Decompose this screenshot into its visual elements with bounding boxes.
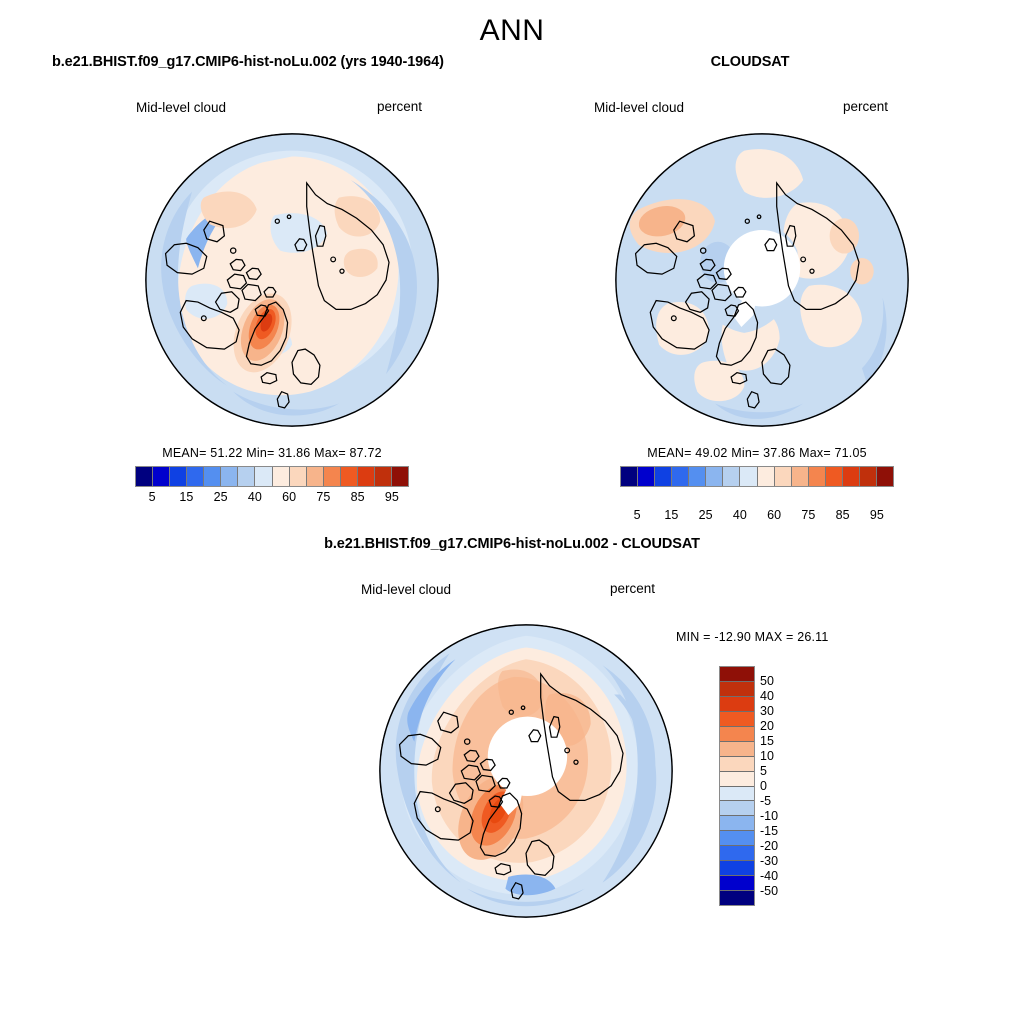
colorbar-swatch — [689, 467, 706, 486]
colorbar-swatch — [290, 467, 307, 486]
panel-title-difference: b.e21.BHIST.f09_g17.CMIP6-hist-noLu.002 … — [242, 536, 782, 552]
colorbar-difference[interactable] — [719, 666, 755, 906]
colorbar-swatch — [720, 742, 754, 757]
colorbar-ticks-observation: 515254060758595 — [620, 507, 894, 525]
colorbar-swatch — [187, 467, 204, 486]
colorbar-swatch — [720, 861, 754, 876]
colorbar-tick-label: 60 — [282, 490, 296, 504]
colorbar-swatch — [826, 467, 843, 486]
colorbar-swatch — [809, 467, 826, 486]
colorbar-swatch — [775, 467, 792, 486]
colorbar-swatch — [720, 891, 754, 905]
colorbar-tick-label: 0 — [760, 779, 767, 793]
colorbar-ticks-model: 515254060758595 — [135, 489, 409, 507]
colorbar-swatch — [792, 467, 809, 486]
colorbar-swatch — [720, 846, 754, 861]
polar-map-difference[interactable] — [379, 624, 673, 918]
colorbar-tick-label: 15 — [664, 508, 678, 522]
colorbar-ticks-difference: 50403020151050-5-10-15-20-30-40-50 — [760, 666, 800, 906]
page-title: ANN — [0, 14, 1024, 48]
colorbar-model[interactable] — [135, 466, 409, 487]
colorbar-swatch — [307, 467, 324, 486]
colorbar-tick-label: 5 — [634, 508, 641, 522]
colorbar-tick-label: 15 — [179, 490, 193, 504]
colorbar-swatch — [375, 467, 392, 486]
colorbar-swatch — [723, 467, 740, 486]
colorbar-swatch — [221, 467, 238, 486]
colorbar-swatch — [706, 467, 723, 486]
units-label-obs: percent — [843, 99, 888, 114]
colorbar-tick-label: 10 — [760, 749, 774, 763]
colorbar-tick-label: 75 — [316, 490, 330, 504]
colorbar-tick-label: -15 — [760, 824, 778, 838]
polar-map-model[interactable] — [145, 133, 439, 427]
colorbar-tick-label: -50 — [760, 884, 778, 898]
colorbar-swatch — [877, 467, 893, 486]
colorbar-swatch — [273, 467, 290, 486]
colorbar-tick-label: 25 — [214, 490, 228, 504]
colorbar-observation[interactable] — [620, 466, 894, 487]
colorbar-swatch — [392, 467, 408, 486]
units-label-difference: percent — [610, 581, 655, 596]
colorbar-swatch — [255, 467, 272, 486]
colorbar-swatch — [170, 467, 187, 486]
colorbar-swatch — [638, 467, 655, 486]
colorbar-swatch — [720, 727, 754, 742]
colorbar-swatch — [672, 467, 689, 486]
colorbar-tick-label: 40 — [248, 490, 262, 504]
colorbar-swatch — [720, 667, 754, 682]
colorbar-swatch — [341, 467, 358, 486]
colorbar-swatch — [358, 467, 375, 486]
variable-label-model: Mid-level cloud — [136, 100, 226, 115]
colorbar-tick-label: 50 — [760, 674, 774, 688]
polar-map-observation[interactable] — [615, 133, 909, 427]
colorbar-swatch — [720, 831, 754, 846]
colorbar-swatch — [621, 467, 638, 486]
variable-label-obs: Mid-level cloud — [594, 100, 684, 115]
colorbar-tick-label: 15 — [760, 734, 774, 748]
colorbar-swatch — [720, 757, 754, 772]
panel-title-obs: CLOUDSAT — [580, 54, 920, 70]
colorbar-tick-label: 40 — [733, 508, 747, 522]
colorbar-swatch — [843, 467, 860, 486]
colorbar-tick-label: 85 — [351, 490, 365, 504]
stats-line-difference: MIN = -12.90 MAX = 26.11 — [676, 630, 829, 644]
colorbar-swatch — [204, 467, 221, 486]
colorbar-tick-label: 5 — [760, 764, 767, 778]
colorbar-swatch — [720, 682, 754, 697]
colorbar-tick-label: 60 — [767, 508, 781, 522]
colorbar-swatch — [740, 467, 757, 486]
colorbar-tick-label: 95 — [385, 490, 399, 504]
colorbar-swatch — [720, 712, 754, 727]
colorbar-tick-label: 40 — [760, 689, 774, 703]
colorbar-tick-label: -30 — [760, 854, 778, 868]
colorbar-tick-label: -20 — [760, 839, 778, 853]
colorbar-tick-label: 85 — [836, 508, 850, 522]
stats-line-model: MEAN= 51.22 Min= 31.86 Max= 87.72 — [135, 446, 409, 460]
colorbar-tick-label: 25 — [699, 508, 713, 522]
colorbar-tick-label: -40 — [760, 869, 778, 883]
colorbar-swatch — [720, 801, 754, 816]
variable-label-difference: Mid-level cloud — [361, 582, 451, 597]
colorbar-swatch — [136, 467, 153, 486]
colorbar-swatch — [238, 467, 255, 486]
colorbar-swatch — [655, 467, 672, 486]
colorbar-swatch — [860, 467, 877, 486]
colorbar-swatch — [720, 816, 754, 831]
colorbar-swatch — [720, 697, 754, 712]
colorbar-swatch — [720, 772, 754, 787]
colorbar-tick-label: -5 — [760, 794, 771, 808]
stats-line-obs: MEAN= 49.02 Min= 37.86 Max= 71.05 — [620, 446, 894, 460]
colorbar-tick-label: 75 — [801, 508, 815, 522]
colorbar-tick-label: -10 — [760, 809, 778, 823]
colorbar-swatch — [720, 876, 754, 891]
colorbar-tick-label: 5 — [149, 490, 156, 504]
colorbar-swatch — [324, 467, 341, 486]
colorbar-tick-label: 95 — [870, 508, 884, 522]
panel-title-model: b.e21.BHIST.f09_g17.CMIP6-hist-noLu.002 … — [52, 54, 532, 70]
colorbar-tick-label: 30 — [760, 704, 774, 718]
colorbar-swatch — [153, 467, 170, 486]
units-label-model: percent — [377, 99, 422, 114]
colorbar-swatch — [720, 787, 754, 802]
colorbar-tick-label: 20 — [760, 719, 774, 733]
colorbar-swatch — [758, 467, 775, 486]
